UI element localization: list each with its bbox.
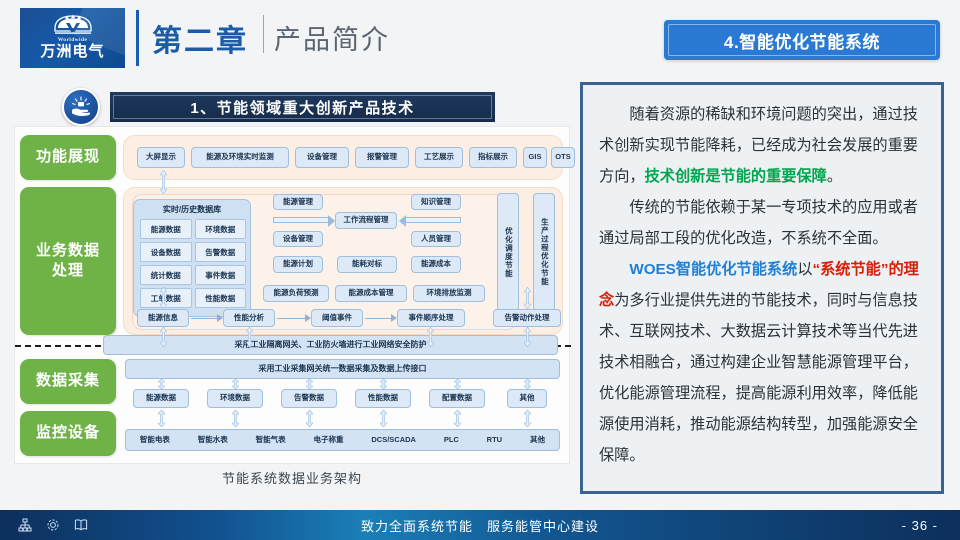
process-box-0[interactable]: 能源信息: [137, 309, 189, 327]
slide-header: Worldwide 万洲电气 第二章 产品简介 4.智能优化节能系统: [0, 0, 960, 76]
vert-arrow-proc-2: [160, 327, 167, 347]
description-panel: 随着资源的稀缺和环境问题的突出，通过技术创新实现节能降耗，已经成为社会发展的重要…: [580, 82, 944, 494]
para3-woes: WOES智能优化节能系统: [629, 261, 797, 278]
slide-title-text: 4.智能优化节能系统: [724, 28, 880, 53]
section-heading-text: 1、节能领域重大创新产品技术: [190, 97, 414, 118]
func-box-2[interactable]: 设备管理: [295, 147, 349, 168]
vert-arrow-proc-0: [160, 287, 167, 309]
func-box-1[interactable]: 能源及环境实时监测: [191, 147, 289, 168]
db-item-5[interactable]: 事件数据: [195, 265, 247, 285]
description-paragraph-1: 随着资源的稀缺和环境问题的突出，通过技术创新实现节能降耗，已经成为社会发展的重要…: [599, 99, 925, 192]
header-divider: [136, 10, 139, 66]
device-7[interactable]: 其他: [530, 436, 545, 445]
architecture-diagram: 功能展现 业务数据 处理 数据采集 监控设备 大屏显示 能源及环境实时监测 设备…: [14, 126, 570, 464]
db-item-7[interactable]: 性能数据: [195, 288, 247, 308]
page-number: - 36 -: [902, 518, 938, 533]
vert-arrow-dt-1: [232, 379, 239, 389]
func-box-4[interactable]: 工艺展示: [415, 147, 463, 168]
layer-label-function: 功能展现: [20, 135, 116, 180]
vertical-box-process[interactable]: 生产过程优化节能: [533, 193, 555, 311]
device-2[interactable]: 智能气表: [256, 436, 286, 445]
device-5[interactable]: PLC: [444, 436, 459, 445]
vert-arrow-proc-3: [427, 327, 434, 347]
vert-arrow-dt-3: [380, 379, 387, 389]
company-logo: Worldwide 万洲电气: [20, 8, 125, 68]
workflow-arrow-left: [273, 217, 329, 223]
hand-idea-icon: [62, 88, 100, 126]
data-type-0[interactable]: 能源数据: [133, 389, 189, 408]
biz-box-personnel[interactable]: 人员管理: [411, 231, 461, 247]
biz-box-energy-mgmt[interactable]: 能源管理: [273, 194, 323, 210]
process-conn-0: [191, 318, 217, 319]
device-6[interactable]: RTU: [487, 436, 502, 445]
slide-title-badge: 4.智能优化节能系统: [664, 20, 940, 60]
vert-arrow-dev-1: [232, 410, 239, 427]
chapter-separator: [263, 15, 264, 53]
process-conn-1: [277, 318, 305, 319]
func-box-0[interactable]: 大屏显示: [137, 147, 185, 168]
slide-footer: 致力全面系统节能 服务能管中心建设 - 36 -: [0, 510, 960, 540]
logo-chinese-text: 万洲电气: [40, 43, 104, 62]
vert-arrow-dev-2: [306, 410, 313, 427]
vert-arrow-dev-5: [524, 410, 531, 427]
func-box-3[interactable]: 报警管理: [355, 147, 409, 168]
workflow-arrow-right: [405, 217, 461, 223]
vert-arrow-alarm-down: [524, 327, 531, 347]
footer-slogan: 致力全面系统节能 服务能管中心建设: [0, 516, 960, 535]
diagram-caption: 节能系统数据业务架构: [14, 468, 570, 487]
db-item-0[interactable]: 能源数据: [140, 219, 192, 239]
para1-part-b: 。: [827, 168, 842, 185]
database-grid: 能源数据 环境数据 设备数据 告警数据 统计数据 事件数据 工单数据 性能数据: [140, 219, 246, 308]
data-type-2[interactable]: 告警数据: [281, 389, 337, 408]
process-box-1[interactable]: 性能分析: [223, 309, 275, 327]
biz-box-load-forecast[interactable]: 能源负荷预测: [263, 285, 329, 302]
biz-box-knowledge[interactable]: 知识管理: [411, 194, 461, 210]
process-box-3[interactable]: 事件顺序处理: [397, 309, 465, 327]
database-title: 实时/历史数据库: [134, 204, 250, 215]
para3-part-b: 以: [797, 261, 812, 278]
db-item-3[interactable]: 告警数据: [195, 242, 247, 262]
biz-box-emission[interactable]: 环境排放监测: [413, 285, 485, 302]
gateway-bar: 采用工业采集网关统一数据采集及数据上传接口: [125, 359, 560, 379]
biz-box-device-mgmt[interactable]: 设备管理: [273, 231, 323, 247]
device-bar: 智能电表 智能水表 智能气表 电子称重 DCS/SCADA PLC RTU 其他: [125, 429, 560, 451]
vert-arrow-proc-1: [246, 327, 253, 347]
vert-arrow-dt-0: [158, 379, 165, 389]
biz-box-workflow[interactable]: 工作流程管理: [335, 212, 397, 229]
layer-label-business: 业务数据 处理: [20, 187, 116, 335]
device-1[interactable]: 智能水表: [198, 436, 228, 445]
biz-box-energy-cost[interactable]: 能源成本: [411, 256, 461, 273]
vert-arrow-dt-2: [306, 379, 313, 389]
db-item-1[interactable]: 环境数据: [195, 219, 247, 239]
data-type-5[interactable]: 其他: [507, 389, 547, 408]
biz-box-benchmark[interactable]: 能耗对标: [337, 256, 397, 273]
data-type-4[interactable]: 配置数据: [429, 389, 485, 408]
database-box: 实时/历史数据库 能源数据 环境数据 设备数据 告警数据 统计数据 事件数据 工…: [133, 199, 251, 317]
vert-arrow-dt-4: [454, 379, 461, 389]
process-box-2[interactable]: 阈值事件: [311, 309, 363, 327]
para3-part-d: 为多行业提供先进的节能技术，同时与信息技术、互联网技术、大数据云计算技术等当代先…: [599, 292, 918, 464]
func-box-5[interactable]: 指标展示: [469, 147, 517, 168]
func-box-7[interactable]: OTS: [551, 147, 575, 168]
description-paragraph-3: WOES智能优化节能系统以“系统节能”的理念为多行业提供先进的节能技术，同时与信…: [599, 254, 925, 471]
vert-arrow-dev-3: [380, 410, 387, 427]
vert-arrow-dev-4: [454, 410, 461, 427]
layer-label-devices: 监控设备: [20, 411, 116, 456]
device-3[interactable]: 电子称重: [314, 436, 344, 445]
vert-arrow-alarm-up: [524, 287, 531, 309]
vertical-box-dispatch[interactable]: 优化调度节能: [497, 193, 519, 311]
vert-arrow-dt-5: [524, 379, 531, 389]
process-conn-2: [365, 318, 391, 319]
section-heading-bar: 1、节能领域重大创新产品技术: [110, 92, 495, 122]
vert-arrow-func: [160, 170, 167, 194]
data-type-1[interactable]: 环境数据: [207, 389, 263, 408]
security-bar: 采用工业隔离网关、工业防火墙进行工业网络安全防护: [103, 335, 558, 355]
db-item-2[interactable]: 设备数据: [140, 242, 192, 262]
chapter-subtitle: 产品简介: [274, 18, 390, 57]
biz-box-cost-mgmt[interactable]: 能源成本管理: [335, 285, 407, 302]
device-4[interactable]: DCS/SCADA: [371, 436, 416, 445]
func-box-6[interactable]: GIS: [523, 147, 547, 168]
db-item-4[interactable]: 统计数据: [140, 265, 192, 285]
crown-w-logo-icon: [52, 14, 94, 36]
alarm-action-box[interactable]: 告警动作处理: [493, 309, 561, 327]
data-type-3[interactable]: 性能数据: [355, 389, 411, 408]
biz-box-energy-plan[interactable]: 能源计划: [273, 256, 323, 273]
device-0[interactable]: 智能电表: [140, 436, 170, 445]
description-paragraph-2: 传统的节能依赖于某一专项技术的应用或者通过局部工段的优化改造，不系统不全面。: [599, 192, 925, 254]
layer-label-collection: 数据采集: [20, 359, 116, 404]
chapter-label: 第二章: [152, 16, 248, 60]
vert-arrow-dev-0: [158, 410, 165, 427]
para1-emphasis: 技术创新是节能的重要保障: [645, 168, 827, 185]
